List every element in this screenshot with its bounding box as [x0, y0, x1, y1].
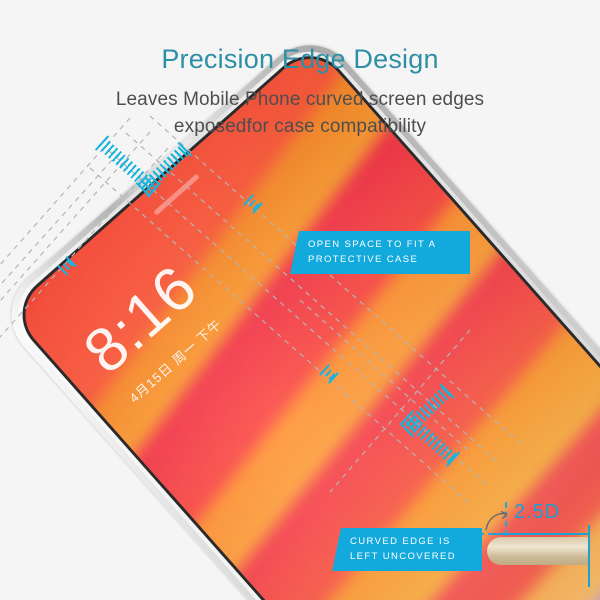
callout-curved-edge-line-2: LEFT UNCOVERED: [350, 550, 470, 565]
diagram-right-bracket: [588, 525, 590, 587]
callout-curved-edge[interactable]: CURVED EDGE IS LEFT UNCOVERED: [332, 528, 482, 571]
subtitle-line-2: exposedfor case compatibility: [0, 113, 600, 141]
edge-curvature-diagram: 2.5D: [487, 500, 600, 600]
header-block: Precision Edge Design Leaves Mobile Phon…: [0, 0, 600, 141]
page-title: Precision Edge Design: [0, 0, 600, 75]
subtitle-line-1: Leaves Mobile Phone curved screen edges: [0, 86, 600, 114]
callout-open-space-line-1: OPEN SPACE TO FIT A: [308, 238, 458, 253]
product-feature-graphic: Precision Edge Design Leaves Mobile Phon…: [0, 0, 600, 600]
diagram-top-rule: [493, 533, 589, 535]
lockscreen-clock: 8:16: [74, 256, 208, 385]
callout-open-space-line-2: PROTECTIVE CASE: [308, 253, 458, 268]
subtitle-block: Leaves Mobile Phone curved screen edges …: [0, 86, 600, 141]
callout-open-space[interactable]: OPEN SPACE TO FIT A PROTECTIVE CASE: [290, 231, 470, 274]
curved-arrow-icon: [483, 508, 513, 534]
edge-curvature-label: 2.5D: [514, 502, 560, 522]
callout-curved-edge-line-1: CURVED EDGE IS: [350, 535, 470, 550]
glass-cross-section: [487, 537, 589, 565]
